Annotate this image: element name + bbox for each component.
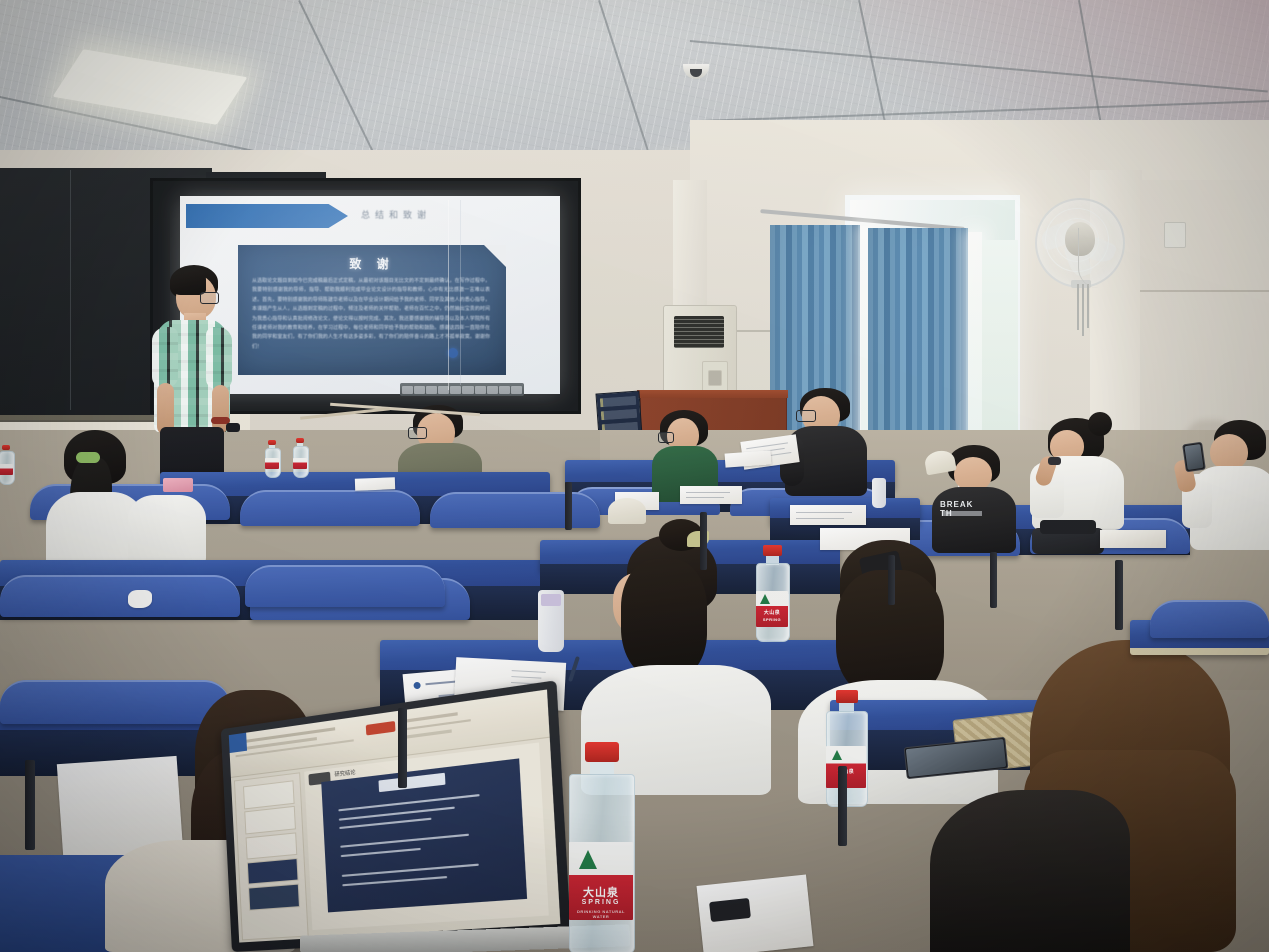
desk-leg (565, 482, 572, 530)
ppt-thumbnail-panel[interactable] (234, 772, 308, 940)
dome-camera-ceiling (683, 64, 709, 79)
banner-row (600, 396, 637, 407)
shirt-text-sub (942, 511, 982, 516)
wristwatch (1048, 457, 1061, 465)
presenter-remote[interactable] (226, 423, 240, 432)
glasses (658, 432, 674, 443)
ppt-slide-canvas[interactable] (322, 758, 528, 912)
desk-leg (838, 766, 847, 846)
shirt-text: BREAK TH (940, 500, 984, 509)
paper-sheet[interactable] (355, 477, 395, 490)
presenter-hair-front (170, 269, 206, 295)
water-bottle[interactable] (264, 440, 280, 476)
smartphone[interactable] (1182, 442, 1206, 473)
student-foreground-dark (930, 790, 1130, 952)
tissue[interactable] (128, 590, 152, 608)
ppt-thumbnail[interactable] (244, 806, 296, 834)
student-filming (1190, 420, 1269, 550)
glasses (796, 410, 816, 422)
student-shirt (128, 495, 206, 565)
student-head (954, 457, 992, 491)
desk-leg (398, 708, 407, 788)
wall-outlet[interactable] (1164, 222, 1186, 248)
laptop[interactable]: 研究结论 (221, 680, 571, 952)
student-hair (930, 790, 1130, 952)
bench-far-right[interactable] (1150, 600, 1269, 638)
presenter-left-sleeve (152, 327, 178, 387)
backpack-strap (1040, 520, 1096, 534)
desk-leg (888, 555, 895, 605)
ppt-thumbnail[interactable] (247, 858, 299, 885)
hair-bun (1088, 412, 1112, 436)
student-head (1210, 434, 1248, 470)
glasses (408, 427, 427, 439)
bottle-brand-en: SPRING (569, 899, 633, 906)
tumbler-label (541, 594, 561, 606)
bench-row1-mid[interactable] (240, 490, 420, 526)
chalkboard-seam (70, 170, 71, 410)
bench-row1-right[interactable] (430, 492, 600, 528)
white-cap[interactable] (608, 498, 646, 524)
student-black-shirt: BREAK TH (930, 445, 1030, 555)
notebook[interactable] (1100, 530, 1166, 548)
banner-row (601, 409, 638, 420)
desk-leg (990, 552, 997, 608)
water-bottle-clear[interactable] (872, 478, 886, 508)
stapler[interactable] (709, 898, 751, 922)
wall-seam (1140, 290, 1269, 292)
glasses (200, 292, 219, 304)
water-bottle[interactable] (292, 438, 308, 476)
desk-leg (700, 512, 707, 570)
bench-row3-left[interactable] (245, 565, 445, 607)
fan-power-cable (1078, 228, 1123, 288)
ppt-thumbnail[interactable] (248, 884, 300, 911)
podium-top (637, 390, 788, 398)
desk-leg (1115, 560, 1123, 630)
ppt-thumbnail[interactable] (243, 780, 295, 809)
laptop-screen[interactable]: 研究结论 (229, 689, 561, 942)
notebook-stack[interactable] (790, 505, 866, 525)
student-hair-back (621, 559, 707, 679)
ppt-thumbnail[interactable] (245, 832, 297, 860)
desk-leg (25, 760, 35, 850)
bench-row2-left[interactable] (0, 575, 240, 617)
student-white-bun (1030, 412, 1140, 532)
ppt-slide-stage[interactable]: 研究结论 (304, 742, 549, 930)
classroom-photo: 总结和致谢 致 谢 从选取论文题目到如今已完成稿最后正式定稿，从最初对该题目无比… (0, 0, 1269, 952)
notebook-stack[interactable] (680, 486, 742, 504)
student-white-front (128, 475, 208, 565)
bottle-brand-cn: 大山泉 (569, 884, 633, 900)
presenter-right-sleeve (206, 327, 232, 389)
water-bottle-foreground[interactable]: 大山泉 SPRING DRINKING NATURAL WATER (568, 742, 634, 952)
hair-tie (76, 452, 100, 463)
water-bottle[interactable] (0, 445, 14, 483)
